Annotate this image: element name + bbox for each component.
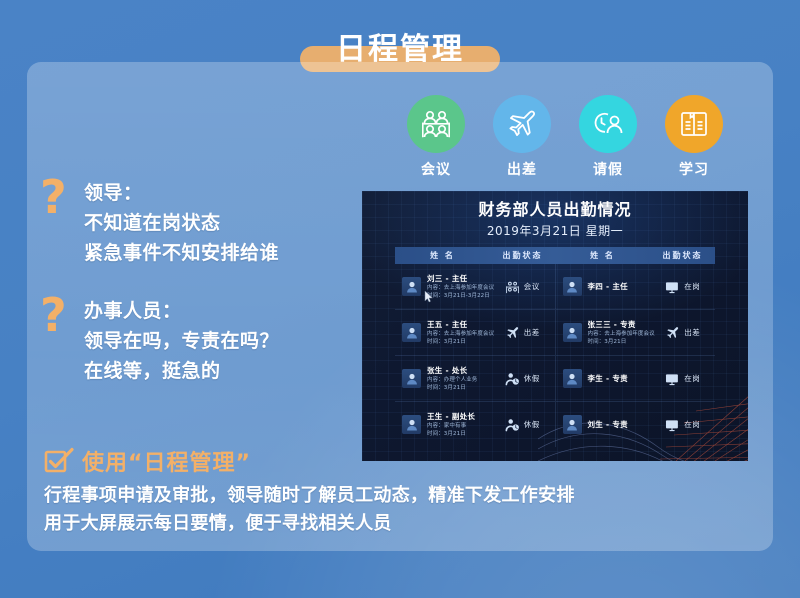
cell-person-left: 张生 - 处长 内容：办理个人业务 时间：3月21日 <box>395 356 490 401</box>
person-name: 刘生 - 专责 <box>588 420 651 430</box>
solution-line-2: 用于大屏展示每日要情，便于寻找相关人员 <box>44 510 744 538</box>
status-label: 在岗 <box>684 373 700 384</box>
meeting-people-icon <box>505 279 520 294</box>
avatar <box>563 415 582 434</box>
status-label: 休假 <box>524 419 540 430</box>
person-info: 刘三 - 主任 内容：去上海参加年度会议 时间：3月21日-3月22日 <box>427 274 490 300</box>
person-name: 李生 - 专责 <box>588 374 651 384</box>
solution-title: 使用“日程管理” <box>82 445 251 477</box>
col-header-name-left: 姓 名 <box>395 250 490 261</box>
pain-line-leader-2: 紧急事件不知安排给谁 <box>84 238 350 268</box>
cell-status-left: 休假 <box>490 402 556 447</box>
leave-bubble <box>579 95 637 153</box>
pain-point-leader: ? 领导： 不知道在岗状态 紧急事件不知安排给谁 <box>40 178 350 268</box>
person-name: 张三三 - 专责 <box>588 320 651 330</box>
person-content: 内容：家中有事 <box>427 422 490 430</box>
solution-line-1: 行程事项申请及审批，领导随时了解员工动态，精准下发工作安排 <box>44 482 744 510</box>
person-info: 张生 - 处长 内容：办理个人业务 时间：3月21日 <box>427 366 490 392</box>
cell-status-right: 在岗 <box>651 402 716 447</box>
person-name: 张生 - 处长 <box>427 366 490 376</box>
airplane-icon <box>505 325 520 340</box>
table-row[interactable]: 王五 - 主任 内容：去上海参加年度会议 时间：3月21日 出差 <box>395 310 715 356</box>
monitor-icon <box>665 417 680 432</box>
question-mark-icon: ? <box>40 174 67 220</box>
pain-line-leader-1: 不知道在岗状态 <box>84 208 350 238</box>
status-label: 休假 <box>524 373 540 384</box>
category-item-leave[interactable]: 请假 <box>577 95 639 180</box>
avatar <box>402 277 421 296</box>
person-name: 刘三 - 主任 <box>427 274 490 284</box>
cell-person-left: 王五 - 主任 内容：去上海参加年度会议 时间：3月21日 <box>395 310 490 355</box>
category-label-study: 学习 <box>663 159 725 179</box>
travel-bubble <box>493 95 551 153</box>
airplane-icon <box>665 325 680 340</box>
cell-person-left: 王生 - 副处长 内容：家中有事 时间：3月21日 <box>395 402 490 447</box>
cell-status-right: 在岗 <box>651 356 716 401</box>
avatar <box>402 369 421 388</box>
pain-line-staff-1: 领导在吗，专责在吗？ <box>84 326 350 356</box>
avatar <box>402 323 421 342</box>
person-time: 时间：3月21日 <box>427 338 490 346</box>
status-label: 出差 <box>524 327 540 338</box>
person-info: 李四 - 主任 <box>588 282 651 292</box>
avatar <box>563 369 582 388</box>
dashboard-date: 2019年3月21日 星期一 <box>362 222 748 240</box>
category-label-travel: 出差 <box>491 159 553 179</box>
cell-status-left: 休假 <box>490 356 556 401</box>
category-item-meeting[interactable]: 会议 <box>405 95 467 180</box>
attendance-table: 姓 名 出勤状态 姓 名 出勤状态 刘三 - 主任 内容：去上海参加年度会议 时… <box>395 247 715 447</box>
avatar <box>563 323 582 342</box>
pain-role-leader: 领导： <box>84 178 350 208</box>
checkbox-checked-icon <box>44 447 74 475</box>
status-label: 在岗 <box>684 281 700 292</box>
monitor-icon <box>665 279 680 294</box>
person-time: 时间：3月21日 <box>588 338 651 346</box>
cell-person-left: 刘三 - 主任 内容：去上海参加年度会议 时间：3月21日-3月22日 <box>395 264 490 309</box>
person-content: 内容：去上海参加年度会议 <box>588 330 651 338</box>
category-item-travel[interactable]: 出差 <box>491 95 553 180</box>
person-name: 李四 - 主任 <box>588 282 651 292</box>
person-clock-icon <box>505 417 520 432</box>
avatar <box>402 415 421 434</box>
cell-status-left: 出差 <box>490 310 556 355</box>
table-row[interactable]: 张生 - 处长 内容：办理个人业务 时间：3月21日 休假 <box>395 356 715 402</box>
cell-person-right: 张三三 - 专责 内容：去上海参加年度会议 时间：3月21日 <box>556 310 651 355</box>
avatar <box>563 277 582 296</box>
pain-role-staff: 办事人员： <box>84 296 350 326</box>
cell-status-left: 会议 <box>490 264 556 309</box>
status-label: 在岗 <box>684 419 700 430</box>
pain-line-staff-2: 在线等，挺急的 <box>84 356 350 386</box>
person-time: 时间：3月21日 <box>427 430 490 438</box>
person-time: 时间：3月21日 <box>427 384 490 392</box>
person-name: 王五 - 主任 <box>427 320 490 330</box>
table-header-row: 姓 名 出勤状态 姓 名 出勤状态 <box>395 247 715 264</box>
pain-point-staff: ? 办事人员： 领导在吗，专责在吗？ 在线等，挺急的 <box>40 296 350 386</box>
person-info: 刘生 - 专责 <box>588 420 651 430</box>
status-label: 出差 <box>684 327 700 338</box>
meeting-bubble <box>407 95 465 153</box>
dashboard-header: 财务部人员出勤情况 2019年3月21日 星期一 <box>362 199 748 240</box>
category-label-meeting: 会议 <box>405 159 467 179</box>
person-info: 李生 - 专责 <box>588 374 651 384</box>
col-header-status-right: 出勤状态 <box>650 250 715 261</box>
person-content: 内容：办理个人业务 <box>427 376 490 384</box>
cell-status-right: 出差 <box>651 310 716 355</box>
person-info: 张三三 - 专责 内容：去上海参加年度会议 时间：3月21日 <box>588 320 651 346</box>
col-header-status-left: 出勤状态 <box>490 250 555 261</box>
table-row[interactable]: 王生 - 副处长 内容：家中有事 时间：3月21日 休假 <box>395 402 715 447</box>
category-row: 会议 出差 <box>405 95 725 180</box>
cell-person-right: 李四 - 主任 <box>556 264 651 309</box>
cell-person-right: 刘生 - 专责 <box>556 402 651 447</box>
cell-person-right: 李生 - 专责 <box>556 356 651 401</box>
table-row[interactable]: 刘三 - 主任 内容：去上海参加年度会议 时间：3月21日-3月22日 <box>395 264 715 310</box>
category-item-study[interactable]: 学习 <box>663 95 725 180</box>
person-clock-icon <box>505 371 520 386</box>
mouse-cursor-icon <box>424 290 434 303</box>
person-name: 王生 - 副处长 <box>427 412 490 422</box>
study-bubble <box>665 95 723 153</box>
person-content: 内容：去上海参加年度会议 <box>427 284 490 292</box>
person-info: 王生 - 副处长 内容：家中有事 时间：3月21日 <box>427 412 490 438</box>
dashboard-title: 财务部人员出勤情况 <box>362 199 748 221</box>
attendance-dashboard: 财务部人员出勤情况 2019年3月21日 星期一 姓 名 出勤状态 姓 名 出勤… <box>362 191 748 461</box>
poster-root: 日程管理 <box>0 0 800 598</box>
col-header-name-right: 姓 名 <box>555 250 650 261</box>
person-time: 时间：3月21日-3月22日 <box>427 292 490 300</box>
cell-status-right: 在岗 <box>651 264 716 309</box>
category-label-leave: 请假 <box>577 159 639 179</box>
monitor-icon <box>665 371 680 386</box>
person-info: 王五 - 主任 内容：去上海参加年度会议 时间：3月21日 <box>427 320 490 346</box>
status-label: 会议 <box>524 281 540 292</box>
question-mark-icon: ? <box>40 292 67 338</box>
person-content: 内容：去上海参加年度会议 <box>427 330 490 338</box>
